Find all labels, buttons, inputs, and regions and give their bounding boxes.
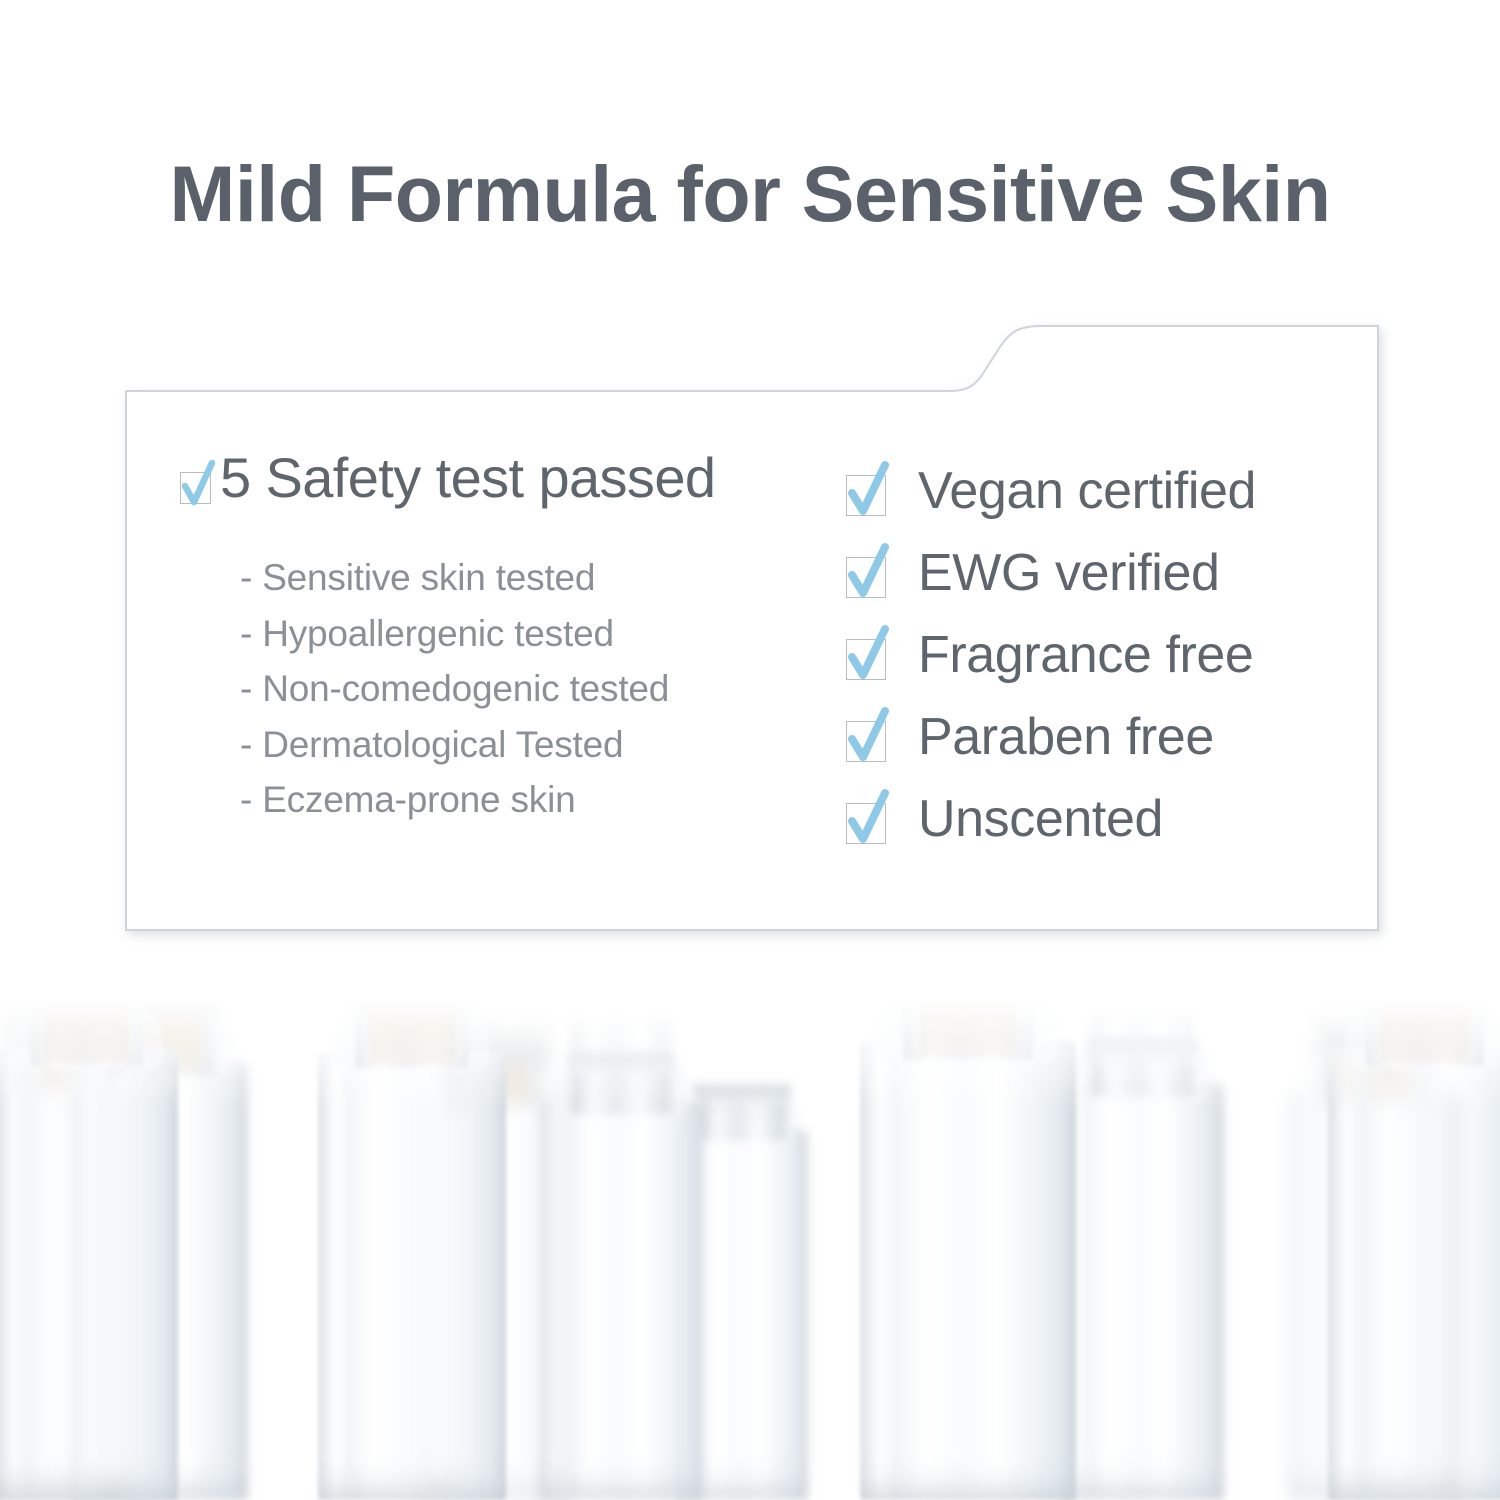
safety-tests-column: 5 Safety test passed - Sensitive skin te…	[178, 450, 838, 828]
vial	[860, 1000, 1076, 1500]
certification-label: EWG verified	[918, 547, 1220, 599]
vial	[318, 1000, 506, 1500]
certifications-column: Vegan certified EWG verified	[842, 450, 1362, 860]
list-item: - Dermatological Tested	[240, 717, 838, 773]
checkbox-checked-icon[interactable]	[178, 460, 218, 512]
certification-label: Unscented	[918, 793, 1163, 845]
checkbox-checked-icon[interactable]	[842, 461, 894, 521]
safety-sub-list: - Sensitive skin tested - Hypoallergenic…	[240, 550, 838, 828]
card-content: 5 Safety test passed - Sensitive skin te…	[126, 322, 1378, 942]
certification-label: Paraben free	[918, 711, 1214, 763]
check-mark-icon	[842, 543, 894, 603]
check-mark-icon	[842, 707, 894, 767]
check-mark-icon	[842, 625, 894, 685]
list-item[interactable]: Unscented	[842, 778, 1362, 860]
checkbox-checked-icon[interactable]	[842, 789, 894, 849]
claims-card: 5 Safety test passed - Sensitive skin te…	[112, 306, 1394, 946]
certification-label: Fragrance free	[918, 629, 1253, 681]
list-item[interactable]: Paraben free	[842, 696, 1362, 778]
checkbox-checked-icon[interactable]	[842, 707, 894, 767]
list-item[interactable]: EWG verified	[842, 532, 1362, 614]
check-mark-icon	[178, 460, 218, 512]
safety-heading-row[interactable]: 5 Safety test passed	[178, 450, 838, 512]
list-item: - Hypoallergenic tested	[240, 606, 838, 662]
check-mark-icon	[842, 789, 894, 849]
vial	[1060, 1000, 1224, 1500]
certification-label: Vegan certified	[918, 465, 1256, 517]
list-item: - Eczema-prone skin	[240, 772, 838, 828]
checkbox-checked-icon[interactable]	[842, 625, 894, 685]
product-photo-vials	[0, 1000, 1500, 1500]
product-infographic-page: Mild Formula for Sensitive Skin	[0, 0, 1500, 1500]
checkbox-checked-icon[interactable]	[842, 543, 894, 603]
check-mark-icon	[842, 461, 894, 521]
page-title: Mild Formula for Sensitive Skin	[0, 148, 1500, 240]
list-item[interactable]: Vegan certified	[842, 450, 1362, 532]
list-item[interactable]: Fragrance free	[842, 614, 1362, 696]
vial	[0, 1000, 178, 1500]
vial	[540, 1000, 702, 1500]
safety-heading-label: 5 Safety test passed	[220, 450, 715, 506]
list-item: - Sensitive skin tested	[240, 550, 838, 606]
list-item: - Non-comedogenic tested	[240, 661, 838, 717]
vial	[1328, 1000, 1500, 1500]
